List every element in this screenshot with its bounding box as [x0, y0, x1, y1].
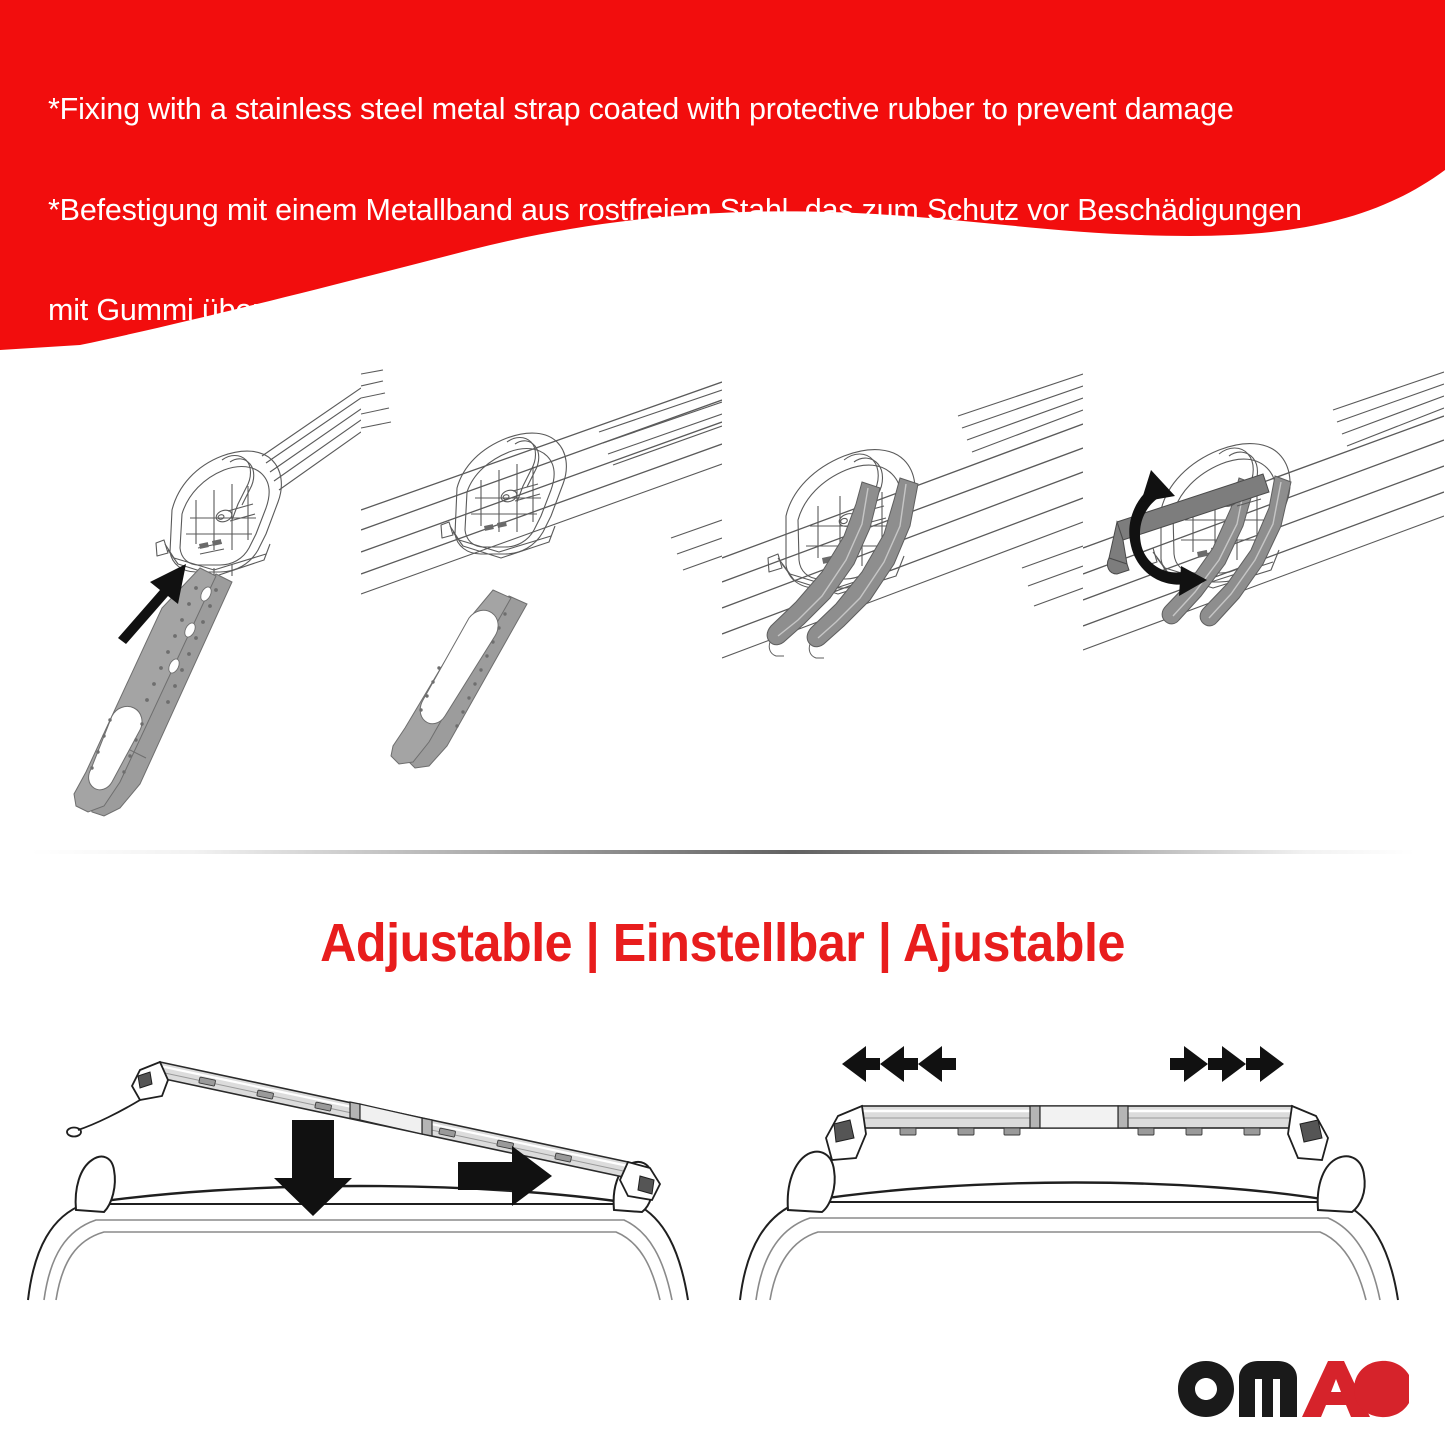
- triple-right-arrow: [1170, 1046, 1284, 1082]
- section-divider: [30, 850, 1415, 854]
- adjustable-title: Adjustable | Einstellbar | Ajustable: [51, 912, 1395, 974]
- step-panel-1: [0, 368, 361, 823]
- omac-logo-mark: [1176, 1358, 1411, 1420]
- omac-letter-o: [1178, 1361, 1234, 1417]
- step-2-illustration: [361, 368, 722, 823]
- omac-letter-c: [1354, 1361, 1409, 1417]
- down-arrow: [274, 1120, 352, 1216]
- banner-line-1: *Fixing with a stainless steel metal str…: [48, 93, 1428, 127]
- banner-line-2: *Befestigung mit einem Metallband aus ro…: [48, 194, 1428, 228]
- step-panel-2: [361, 368, 722, 823]
- banner-line-3: mit Gummi überzogen ist: [48, 294, 1428, 328]
- crossbar-lowering-illustration: [0, 1020, 722, 1320]
- bottom-panel-left: [0, 1020, 722, 1320]
- cross-bar: [67, 1062, 660, 1200]
- omac-logo: [1176, 1358, 1411, 1420]
- step-panel-3: [722, 368, 1083, 823]
- product-info-page: *Fixing with a stainless steel metal str…: [0, 0, 1445, 1445]
- bottom-panel-right: [722, 1020, 1444, 1320]
- step-3-illustration: [722, 368, 1083, 823]
- installation-steps-strip: [0, 368, 1445, 823]
- triple-left-arrow: [842, 1046, 956, 1082]
- foot-label-mark: [199, 539, 222, 549]
- step-1-illustration: [0, 368, 361, 823]
- crossbar-width-adjust-illustration: [722, 1020, 1444, 1320]
- red-header-banner: *Fixing with a stainless steel metal str…: [0, 0, 1445, 350]
- omac-letter-m: [1239, 1361, 1297, 1417]
- step-panel-4: [1083, 368, 1444, 823]
- step-4-illustration: [1083, 368, 1444, 823]
- adjustable-illustrations: [0, 1020, 1445, 1320]
- cross-bar: [826, 1106, 1328, 1160]
- metal-strap-2: [391, 590, 527, 768]
